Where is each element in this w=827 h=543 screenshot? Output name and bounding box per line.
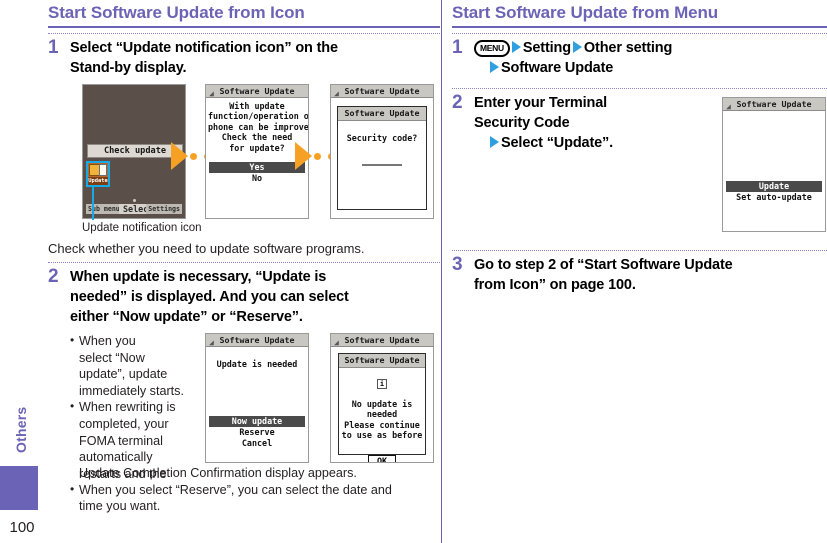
callout-line-vertical	[92, 187, 94, 220]
right-step-3-line-1: Go to step 2 of “Start Software Update	[474, 255, 827, 275]
update-needed-body: Update is needed Now update Reserve Canc…	[206, 347, 308, 452]
left-step-2-line-2: needed” is displayed. And you can select	[70, 287, 440, 307]
left-step-2-line-3: either “Now update” or “Reserve”.	[70, 307, 440, 327]
left-section-title: Start Software Update from Icon	[48, 0, 440, 23]
menu-item-other-setting[interactable]: Other setting	[584, 40, 672, 56]
bullet-2-tail: Update Completion Confirmation display a…	[70, 465, 440, 482]
right-step-1: 1 MENUSettingOther setting Software Upda…	[452, 38, 827, 78]
right-step-1-number: 1	[452, 37, 463, 58]
icon-page-shape	[99, 164, 107, 176]
menu-screen-titlebar: ◢ Software Update	[723, 98, 825, 111]
triangle-icon-1	[512, 41, 521, 53]
no-update-popup-title: Software Update	[339, 354, 425, 368]
flow-arrow-1	[171, 142, 188, 170]
menu-item-software-update[interactable]: Software Update	[501, 60, 613, 76]
bullet-2-line-3: FOMA terminal	[79, 433, 202, 450]
update-needed-message: Update is needed	[208, 359, 306, 369]
left-step-2-bullets-tail: Update Completion Confirmation display a…	[70, 465, 440, 515]
triangle-icon-2	[573, 41, 582, 53]
screen-security-titlebar: ◢ Software Update	[331, 85, 433, 98]
security-popup-title: Software Update	[338, 107, 426, 121]
left-step-2-line-1: When update is necessary, “Update is	[70, 267, 440, 287]
screen-update-needed: ◢ Software Update Update is needed Now u…	[205, 333, 309, 463]
callout-caption: Update notification icon	[82, 221, 202, 235]
screen-confirm-body: With update function/operation of phone …	[206, 98, 308, 187]
bullet-1-line-1: When you	[79, 333, 202, 350]
standby-check-update-label: Check update	[87, 144, 183, 158]
left-step-2-figure: When you select “Now update”, update imm…	[48, 333, 440, 503]
screen-confirm-update: ◢ Software Update With update function/o…	[205, 84, 309, 219]
right-step-3: 3 Go to step 2 of “Start Software Update…	[452, 255, 827, 295]
no-update-line-4: to use as before	[339, 430, 425, 440]
security-prompt: Security code?	[338, 133, 426, 143]
page-number: 100	[0, 519, 44, 536]
menu-key-icon[interactable]: MENU	[474, 40, 510, 57]
left-step-2-bullets: When you select “Now update”, update imm…	[70, 333, 202, 482]
right-step-3-line-2: from Icon” on page 100.	[474, 275, 827, 295]
screen-security-code: ◢ Software Update Software Update Securi…	[330, 84, 434, 219]
right-column: Start Software Update from Menu 1 MENUSe…	[452, 0, 827, 295]
right-step-2-number: 2	[452, 92, 463, 113]
dotted-rule-1	[48, 33, 440, 34]
triangle-icon-4	[490, 136, 499, 148]
dotted-rule-5	[452, 250, 827, 251]
confirm-option-no[interactable]: No	[208, 173, 306, 184]
no-update-line-2: needed	[339, 409, 425, 419]
bullet-3-line-1: When you select “Reserve”, you can selec…	[79, 482, 440, 499]
left-step-1-figure: Check update Update Sub menu Select Sett…	[48, 84, 440, 254]
left-title-rule	[48, 26, 440, 28]
bullet-1-line-2: select “Now	[79, 350, 202, 367]
confirm-line-5: for update?	[208, 143, 306, 153]
confirm-line-1: With update	[208, 101, 306, 111]
right-step-2: 2 Enter your Terminal Security Code Sele…	[452, 93, 827, 245]
standby-cursor-dot	[133, 199, 136, 202]
option-cancel[interactable]: Cancel	[208, 438, 306, 449]
menu-screen-body: Update Set auto-update	[723, 111, 825, 206]
left-step-1-line-2: Stand-by display.	[70, 58, 440, 78]
no-update-line-3: Please continue	[339, 420, 425, 430]
no-update-line-1: No update is	[339, 399, 425, 409]
dotted-rule-4	[452, 88, 827, 89]
right-step-3-number: 3	[452, 254, 463, 275]
ok-button[interactable]: OK	[368, 455, 396, 463]
confirm-option-yes[interactable]: Yes	[209, 162, 305, 173]
left-step-1-line-1: Select “Update notification icon” on the	[70, 38, 440, 58]
side-tab-block	[0, 466, 38, 510]
menu-option-set-auto-update[interactable]: Set auto-update	[725, 192, 823, 203]
left-step-1-number: 1	[48, 37, 59, 58]
bullet-3-line-2: time you want.	[79, 498, 440, 515]
confirm-line-3: phone can be improved	[208, 122, 306, 132]
select-update-text: Select “Update”.	[501, 135, 613, 151]
softkey-settings: Settings	[146, 204, 182, 214]
security-code-input[interactable]	[362, 164, 402, 166]
screen-software-update-menu: ◢ Software Update Update Set auto-update	[722, 97, 826, 232]
column-divider	[441, 0, 442, 543]
antenna-icon: ◢	[334, 336, 339, 349]
security-popup: Software Update Security code?	[337, 106, 427, 210]
update-notification-icon: Update	[86, 161, 110, 187]
screen-no-update: ◢ Software Update Software Update i No u…	[330, 333, 434, 463]
menu-item-setting[interactable]: Setting	[523, 40, 571, 56]
bullet-1: When you select “Now update”, update imm…	[70, 333, 202, 399]
dotted-rule-3	[452, 33, 827, 34]
confirm-line-4: Check the need	[208, 132, 306, 142]
menu-option-update[interactable]: Update	[726, 181, 822, 192]
side-tab-label: Others	[6, 395, 36, 465]
right-step-1-line-2: Software Update	[474, 58, 827, 78]
left-column: Start Software Update from Icon 1 Select…	[48, 0, 440, 503]
right-step-1-line-1: MENUSettingOther setting	[474, 38, 827, 58]
antenna-icon: ◢	[209, 336, 214, 349]
triangle-icon-3	[490, 61, 499, 73]
bullet-2-line-2: completed, your	[79, 416, 202, 433]
left-step-2-number: 2	[48, 266, 59, 287]
update-needed-titlebar: ◢ Software Update	[206, 334, 308, 347]
left-step-2: 2 When update is necessary, “Update is n…	[48, 267, 440, 327]
dotted-rule-2	[48, 262, 440, 263]
info-icon: i	[339, 371, 425, 390]
right-section-title: Start Software Update from Menu	[452, 0, 827, 23]
manual-page: Others 100 Start Software Update from Ic…	[0, 0, 827, 543]
bullet-1-line-4: immediately starts.	[79, 383, 202, 400]
antenna-icon: ◢	[334, 87, 339, 100]
no-update-popup: Software Update i No update is needed Pl…	[338, 353, 426, 455]
bullet-2-line-1: When rewriting is	[79, 399, 202, 416]
antenna-icon: ◢	[726, 100, 731, 113]
no-update-titlebar: ◢ Software Update	[331, 334, 433, 347]
right-title-rule	[452, 26, 827, 28]
bullet-3: When you select “Reserve”, you can selec…	[70, 482, 440, 515]
icon-update-caption: Update	[88, 177, 108, 185]
option-reserve[interactable]: Reserve	[208, 427, 306, 438]
confirm-line-2: function/operation of	[208, 111, 306, 121]
bullet-1-line-3: update”, update	[79, 366, 202, 383]
left-step-1: 1 Select “Update notification icon” on t…	[48, 38, 440, 78]
bullet-2-line-4: automatically	[79, 449, 202, 466]
screen-confirm-titlebar: ◢ Software Update	[206, 85, 308, 98]
flow-arrow-2	[295, 142, 312, 170]
antenna-icon: ◢	[209, 87, 214, 100]
option-now-update[interactable]: Now update	[209, 416, 305, 427]
